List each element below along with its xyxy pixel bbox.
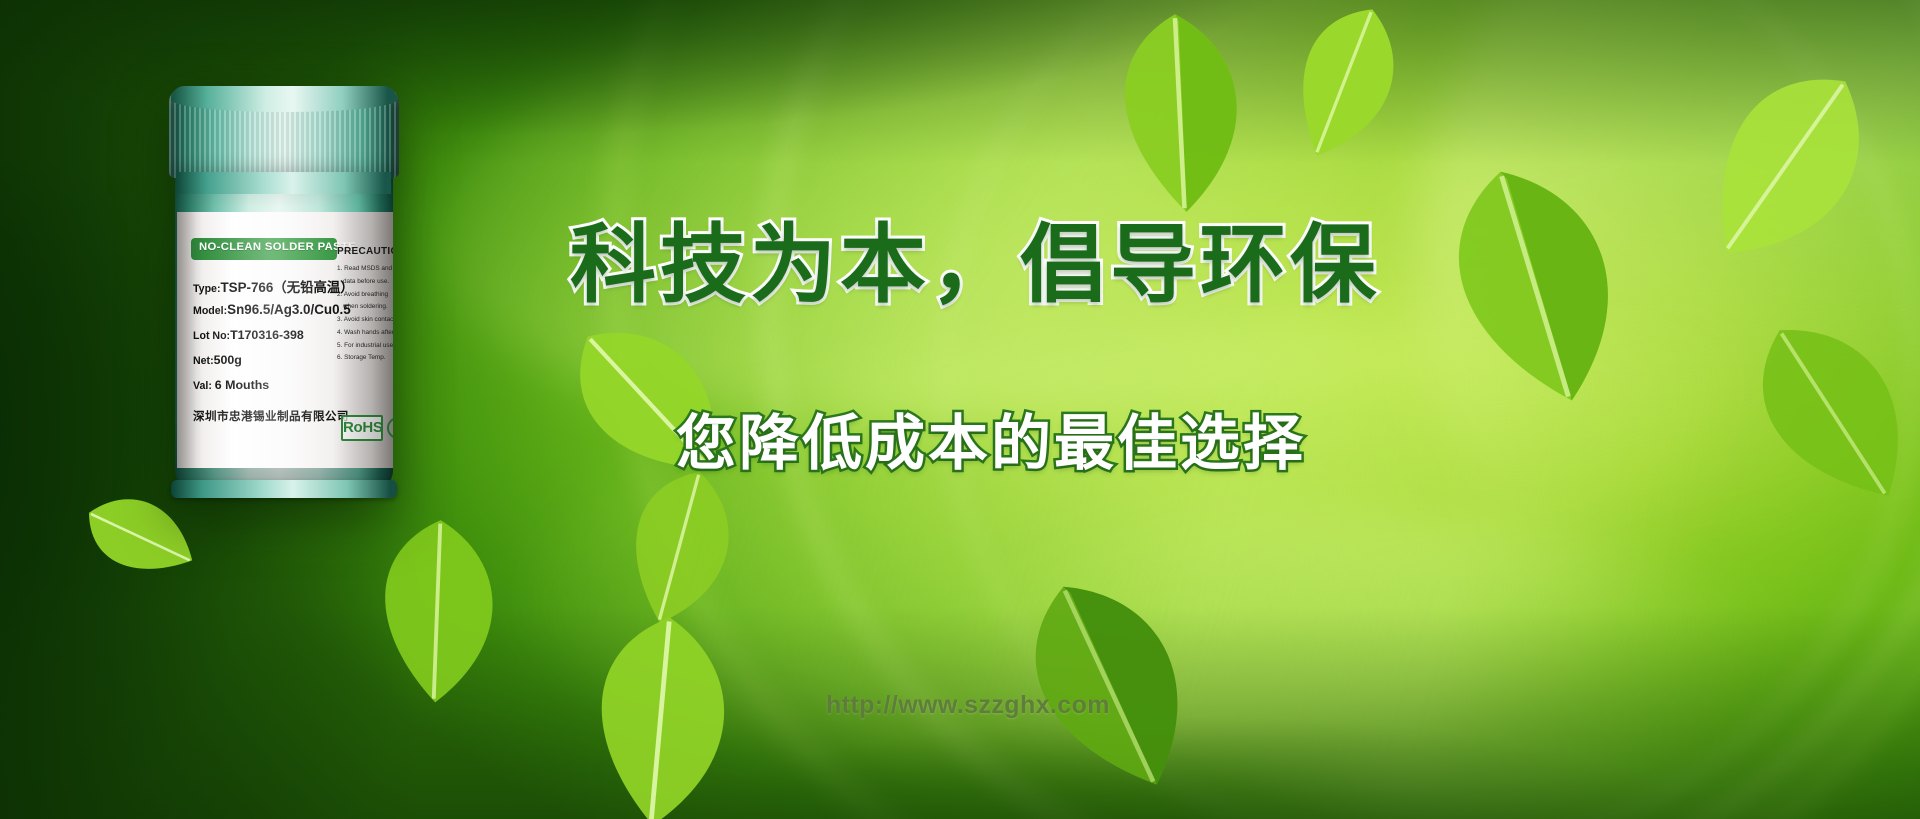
product-jar: NO-CLEAN SOLDER PASTE Type:TSP-766（无铅高温）… <box>163 88 405 492</box>
list-item-continuation: when soldering. <box>337 302 393 311</box>
label-precautions-title: PRECAUTIONS <box>337 246 393 257</box>
list-item-continuation: data before use. <box>337 277 393 286</box>
recycle-circle-icon <box>387 417 393 439</box>
label-company-name: 深圳市忠港锡业制品有限公司 <box>193 408 349 424</box>
label-spec-type: Type:TSP-766（无铅高温） <box>193 276 354 296</box>
label-precautions-column: PRECAUTIONS 1. Read MSDS and data before… <box>335 218 391 468</box>
page-subtitle: 您降低成本的最佳选择 <box>676 414 1306 474</box>
label-spec-lot-key: Lot No: <box>193 330 230 342</box>
label-spec-type-value: TSP-766（无铅高温） <box>220 280 353 295</box>
label-spec-model-value: Sn96.5/Ag3.0/Cu0.5 <box>227 302 351 317</box>
list-item: 6. Storage Temp. <box>337 353 393 362</box>
list-item: 2. Avoid breathing <box>337 290 393 299</box>
list-item: 5. For industrial use. <box>337 341 393 350</box>
label-spec-val-value: 6 Mouths <box>215 378 269 392</box>
label-spec-val-key: Val: <box>193 380 215 392</box>
list-item: when soldering. <box>337 302 393 311</box>
label-spec-type-key: Type: <box>193 283 220 295</box>
list-item: data before use. <box>337 277 393 286</box>
list-item: 1. Read MSDS and <box>337 264 393 273</box>
label-spec-val: Val: 6 Mouths <box>193 378 269 392</box>
label-spec-lot: Lot No:T170316-398 <box>193 328 304 342</box>
label-precautions-list: 1. Read MSDS and data before use. 2. Avo… <box>337 264 393 366</box>
list-item: 4. Wash hands after use. <box>337 328 393 337</box>
label-spec-net-key: Net: <box>193 355 214 367</box>
label-spec-net: Net:500g <box>193 353 242 367</box>
label-product-banner: NO-CLEAN SOLDER PASTE <box>191 238 337 260</box>
label-main-column: NO-CLEAN SOLDER PASTE Type:TSP-766（无铅高温）… <box>183 212 333 468</box>
product-label: NO-CLEAN SOLDER PASTE Type:TSP-766（无铅高温）… <box>177 212 393 468</box>
label-product-banner-text: NO-CLEAN SOLDER PASTE <box>199 241 356 253</box>
label-spec-net-value: 500g <box>214 353 242 367</box>
label-spec-model-key: Model: <box>193 305 227 317</box>
jar-neck <box>177 172 391 194</box>
jar-cap-ring <box>171 480 397 498</box>
label-spec-model: Model:Sn96.5/Ag3.0/Cu0.5 <box>193 302 351 317</box>
website-url: http://www.szzghx.com <box>826 691 1110 720</box>
list-item: 3. Avoid skin contact. <box>337 315 393 324</box>
jar-cap <box>169 88 399 178</box>
page-title: 科技为本，倡导环保 <box>570 222 1380 308</box>
label-spec-lot-value: T170316-398 <box>230 328 304 342</box>
rohs-badge: RoHS <box>341 415 383 441</box>
promo-banner: NO-CLEAN SOLDER PASTE Type:TSP-766（无铅高温）… <box>0 0 1920 819</box>
